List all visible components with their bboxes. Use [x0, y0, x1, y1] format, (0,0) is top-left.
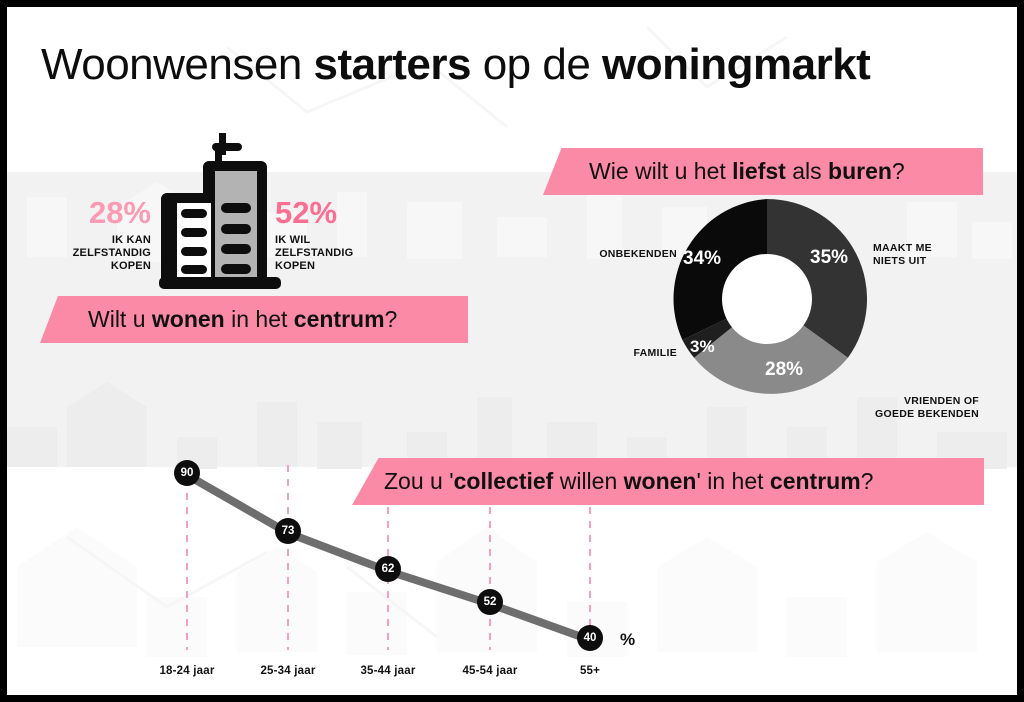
stat-can-buy-percent: 28%: [31, 197, 151, 228]
stat-wants-buy-label: IK WIL ZELFSTANDIG KOPEN: [275, 234, 405, 273]
banner-collective-text: Zou u 'collectief willen wonen' in het c…: [384, 468, 873, 495]
chart-xlabel-25-34: 25-34 jaar: [238, 665, 338, 677]
banner-neighbours-t3: als: [786, 158, 828, 184]
banner-neighbours-t4: buren: [828, 158, 892, 184]
donut-label-familie: FAMILIE: [597, 347, 677, 360]
donut-label-onbekenden: ONBEKENDEN: [573, 248, 677, 261]
donut-value-onbekenden: 34%: [683, 248, 721, 270]
donut-label-0-line1: MAAKT ME: [873, 242, 993, 255]
banner-neighbours-t2: liefst: [732, 158, 786, 184]
chart-point-18-24: 90: [174, 460, 200, 486]
banner-neighbours-t5: ?: [892, 158, 905, 184]
stat-can-buy-label-line2: ZELFSTANDIG: [31, 247, 151, 260]
chart-xlabel-18-24: 18-24 jaar: [137, 665, 237, 677]
banner-collective-t4: wonen: [624, 468, 697, 494]
donut-value-vrienden: 28%: [765, 359, 803, 381]
banner-centre: Wilt u wonen in het centrum?: [40, 296, 468, 343]
chart-point-55plus: 40: [577, 625, 603, 651]
banner-collective-t7: ?: [861, 468, 874, 494]
banner-neighbours: Wie wilt u het liefst als buren?: [543, 148, 983, 195]
banner-collective-t5: ' in het: [696, 468, 769, 494]
donut-hole: [722, 254, 812, 344]
donut-label-1-line2: GOEDE BEKENDEN: [819, 408, 979, 421]
banner-collective-t2: collectief: [454, 468, 554, 494]
donut-label-vrienden: VRIENDEN OF GOEDE BEKENDEN: [819, 395, 979, 420]
banner-centre-t2: wonen: [152, 306, 225, 332]
chart-unit-label: %: [620, 630, 635, 650]
donut-label-maakt-me-niets-uit: MAAKT ME NIETS UIT: [873, 242, 993, 267]
chart-point-45-54: 52: [477, 589, 503, 615]
stat-can-buy: 28% IK KAN ZELFSTANDIG KOPEN: [31, 197, 151, 273]
banner-centre-text: Wilt u wonen in het centrum?: [88, 306, 397, 333]
banner-centre-t5: ?: [385, 306, 398, 332]
title-part-2: starters: [314, 40, 471, 89]
stat-can-buy-label-line3: KOPEN: [31, 260, 151, 273]
stat-wants-buy-label-line3: KOPEN: [275, 260, 405, 273]
stat-wants-buy-percent: 52%: [275, 197, 405, 228]
donut-label-1-line1: VRIENDEN OF: [819, 395, 979, 408]
stat-wants-buy: 52% IK WIL ZELFSTANDIG KOPEN: [275, 197, 405, 273]
chart-xlabel-45-54: 45-54 jaar: [440, 665, 540, 677]
banner-centre-t4: centrum: [294, 306, 385, 332]
banner-centre-t3: in het: [225, 306, 294, 332]
chart-xlabel-55plus: 55+: [540, 665, 640, 677]
donut-value-maakt-me-niets-uit: 35%: [810, 247, 848, 269]
title-part-1: Woonwensen: [41, 40, 314, 89]
office-buildings-icon: [159, 131, 281, 291]
banner-collective-t1: Zou u ': [384, 468, 454, 494]
donut-label-0-line2: NIETS UIT: [873, 255, 993, 268]
stat-can-buy-label-line1: IK KAN: [31, 234, 151, 247]
stat-can-buy-label: IK KAN ZELFSTANDIG KOPEN: [31, 234, 151, 273]
banner-collective: Zou u 'collectief willen wonen' in het c…: [352, 458, 984, 505]
banner-collective-t3: willen: [553, 468, 623, 494]
banner-neighbours-t1: Wie wilt u het: [589, 158, 732, 184]
title-part-4: woningmarkt: [602, 40, 870, 89]
banner-neighbours-text: Wie wilt u het liefst als buren?: [589, 158, 905, 185]
stat-wants-buy-label-line2: ZELFSTANDIG: [275, 247, 405, 260]
chart-point-35-44: 62: [375, 556, 401, 582]
banner-centre-t1: Wilt u: [88, 306, 152, 332]
infographic-frame: Woonwensen starters op de woningmarkt 28…: [0, 0, 1024, 702]
page-title: Woonwensen starters op de woningmarkt: [41, 39, 870, 91]
title-part-3: op de: [471, 40, 602, 89]
donut-value-familie: 3%: [690, 337, 715, 357]
chart-xlabel-35-44: 35-44 jaar: [338, 665, 438, 677]
banner-collective-t6: centrum: [770, 468, 861, 494]
chart-point-25-34: 73: [275, 518, 301, 544]
stat-wants-buy-label-line1: IK WIL: [275, 234, 405, 247]
